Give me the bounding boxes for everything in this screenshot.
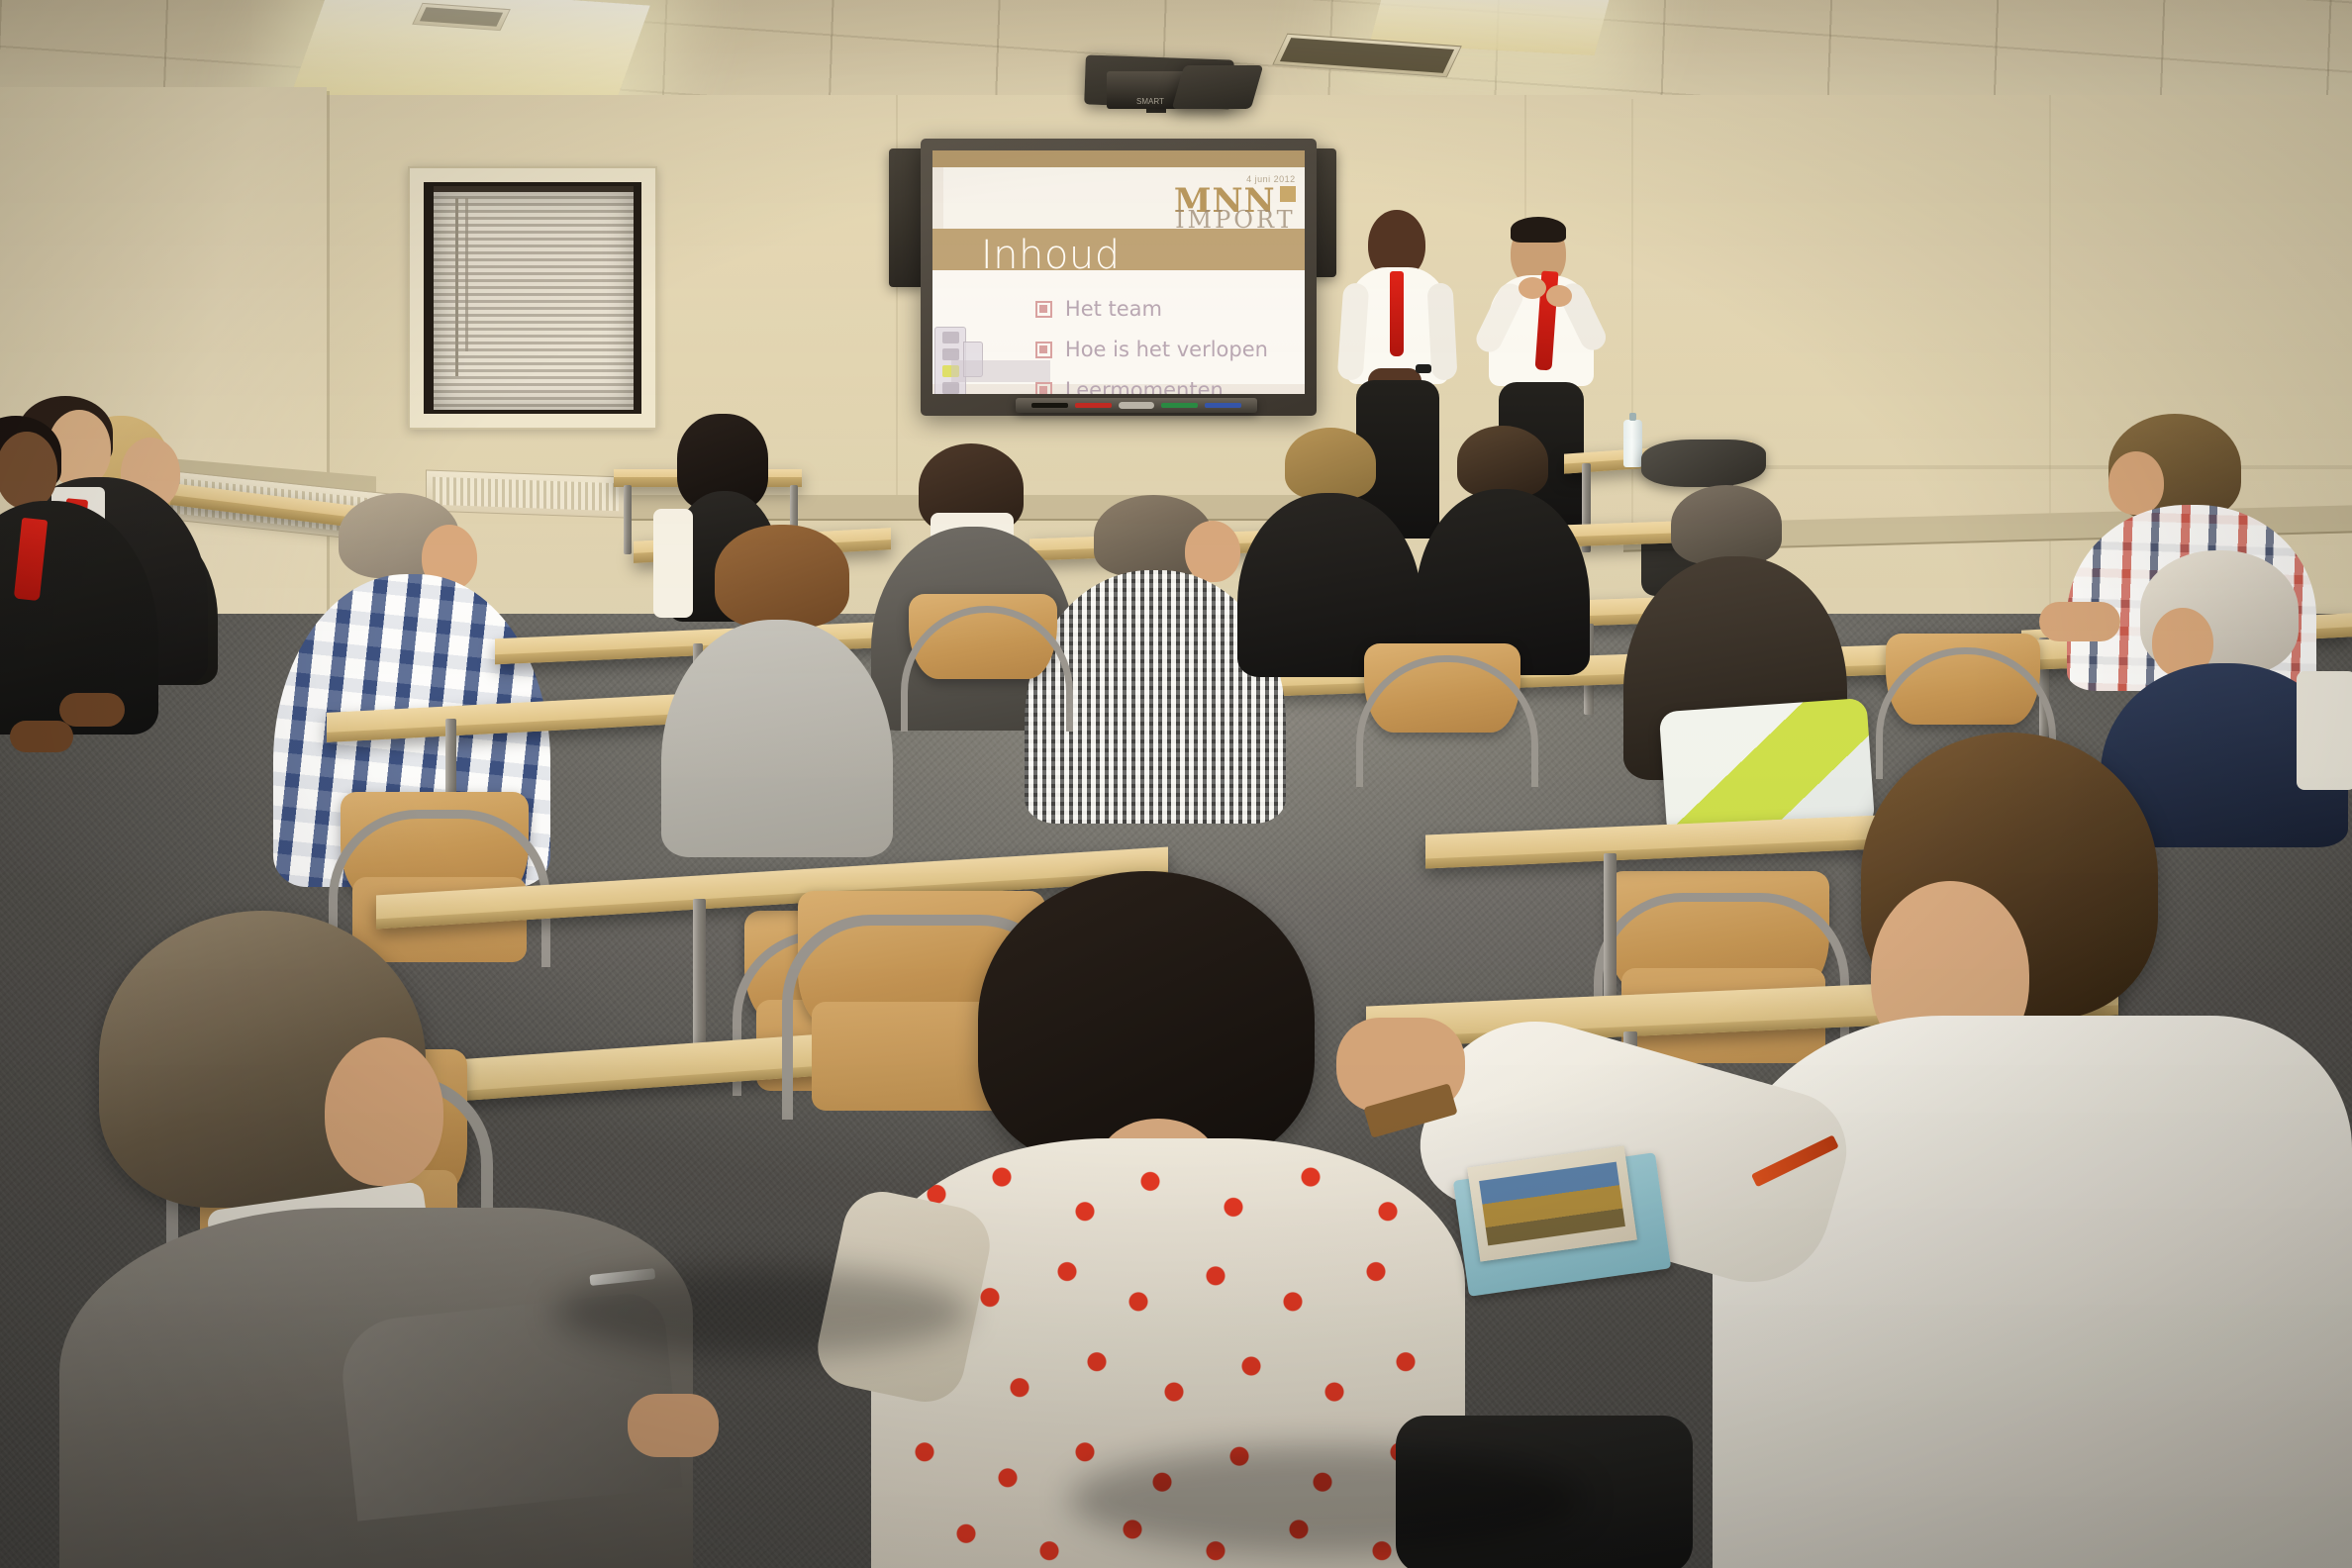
list-item: Leermomenten <box>1035 378 1290 394</box>
blind-cord[interactable] <box>455 198 458 376</box>
interactive-whiteboard[interactable]: 4 juni 2012 MNN IMPORT Inhoud Het team H… <box>921 139 1317 416</box>
presenter-watch <box>1416 364 1431 373</box>
hair-auburn <box>715 525 849 628</box>
eraser-tool-icon[interactable] <box>942 382 959 394</box>
wall-speaker <box>889 148 925 287</box>
whiteboard-pen-tray[interactable] <box>1016 398 1257 413</box>
wall-seam <box>2049 95 2051 649</box>
presenter-hand-on-tie <box>1546 285 1572 307</box>
whiteboard-page-controls[interactable] <box>951 360 1050 382</box>
attendee-head <box>0 432 57 509</box>
marker-black[interactable] <box>1031 403 1068 408</box>
bullet-square-icon <box>1035 342 1052 358</box>
chair[interactable] <box>1356 643 1534 802</box>
shadow <box>1069 1445 1584 1554</box>
bullet-square-icon <box>1035 382 1052 394</box>
attendee-head <box>325 1037 443 1186</box>
presenter-arm <box>1426 282 1457 380</box>
water-bottle[interactable] <box>1623 420 1642 467</box>
chair[interactable] <box>901 594 1069 742</box>
slide-body: Het team Hoe is het verlopen Leermomente… <box>932 270 1305 385</box>
list-item: Het team <box>1035 297 1290 321</box>
hair-dark-short <box>1457 426 1548 497</box>
attendee-grey-sweater-body <box>661 620 893 857</box>
logo-mark-icon <box>1280 186 1296 202</box>
slide-top-band <box>932 150 1305 167</box>
eraser-block[interactable] <box>1119 402 1155 409</box>
bottle-cap <box>1629 413 1637 421</box>
dark-jacket <box>1641 440 1766 487</box>
projector-rear-housing <box>1172 65 1264 109</box>
attendee-head <box>1185 521 1240 582</box>
select-tool-icon[interactable] <box>942 332 959 343</box>
marker-green[interactable] <box>1161 403 1198 408</box>
projector-brand-label: SMART <box>1136 97 1164 106</box>
attendee-dark-suit-right <box>1416 426 1594 673</box>
list-item: Hoe is het verlopen <box>1035 338 1290 361</box>
blind-cord[interactable] <box>465 198 468 351</box>
bullet-square-icon <box>1035 301 1052 318</box>
hair-grey-short <box>1671 485 1782 564</box>
venetian-blinds[interactable] <box>434 192 634 410</box>
presenter-tie <box>1390 271 1404 356</box>
classroom-scene: SMART 4 juni 2012 MNN IMPORT Inhoud Het … <box>0 0 2352 1568</box>
window-frame-inner <box>424 182 641 414</box>
attendee-head <box>2108 451 2164 515</box>
pen-tool-icon[interactable] <box>942 348 959 360</box>
attendee-hand <box>10 721 73 752</box>
presenter-hand-on-tie <box>1519 277 1546 299</box>
hair-blond-short <box>1285 428 1376 499</box>
attendee-grey-suit-foreground <box>59 911 772 1568</box>
cabinet-leg <box>624 485 632 554</box>
attendee-white-shirt-foreground <box>1584 733 2352 1568</box>
attendee-dark-suit-center <box>1237 428 1425 675</box>
attendee-grey-sweater <box>661 525 899 851</box>
shadow <box>554 1267 970 1356</box>
attendee-hand-with-pen <box>628 1394 719 1457</box>
marker-red[interactable] <box>1075 403 1112 408</box>
projected-slide: 4 juni 2012 MNN IMPORT Inhoud Het team H… <box>932 150 1305 394</box>
window <box>408 166 657 430</box>
mnn-logo: 4 juni 2012 MNN IMPORT <box>1174 175 1296 232</box>
attendee-hand <box>59 693 125 727</box>
presenter-hair <box>1511 217 1566 243</box>
marker-blue[interactable] <box>1205 403 1241 408</box>
